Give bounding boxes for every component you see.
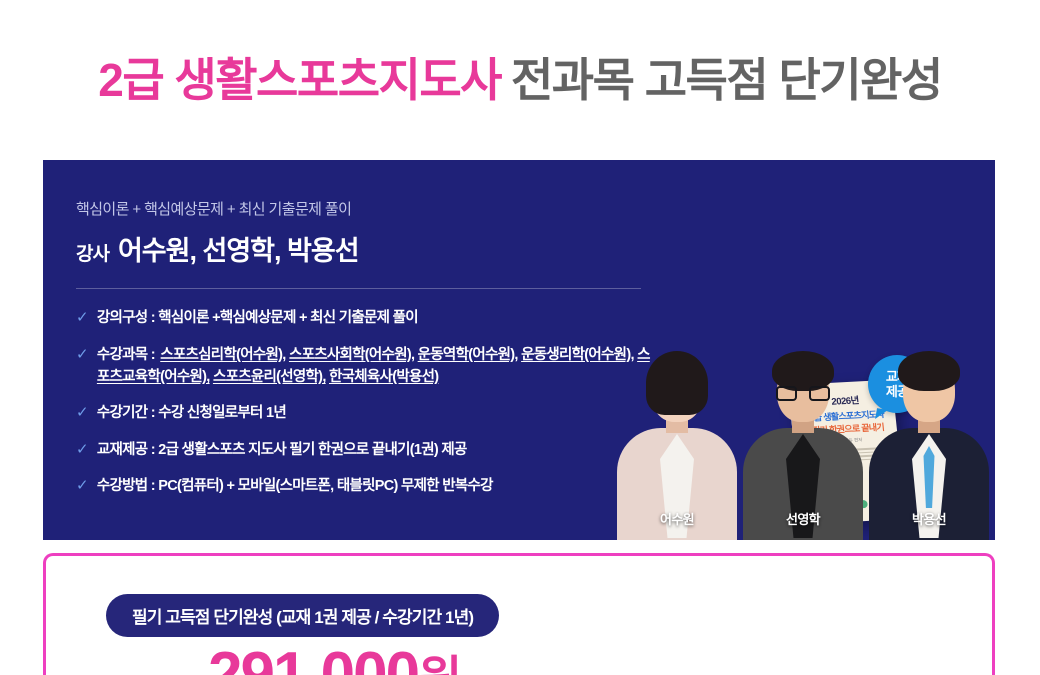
subject-item: 운동역학(어수원), — [418, 347, 518, 363]
instructor-name: 어수원 — [660, 509, 694, 528]
instructor-face — [651, 360, 703, 422]
check-icon: ✓ — [76, 439, 88, 462]
list-item: ✓ 수강기간 : 수강 신청일로부터 1년 — [76, 402, 656, 425]
check-icon: ✓ — [76, 402, 88, 425]
subject-list: 스포츠심리학(어수원), 스포츠사회학(어수원), 운동역학(어수원), 운동생… — [97, 347, 650, 385]
instructor-photo-group: 어수원 선영학 박용선 — [611, 350, 995, 540]
page-title-accent: 2급 생활스포츠지도사 — [98, 54, 501, 106]
page-title-rest: 전과목 고득점 단기완성 — [511, 54, 942, 106]
instructor-photo: 박용선 — [869, 360, 989, 540]
price-amount: 291,000원 — [208, 644, 460, 675]
course-info-panel: 핵심이론 + 핵심예상문제 + 최신 기출문제 풀이 강사 어수원, 선영학, … — [43, 160, 995, 540]
price-number: 291,000 — [208, 640, 418, 675]
lecturer-line: 강사 어수원, 선영학, 박용선 — [76, 229, 656, 268]
list-item-label: 교재제공 : 2급 생활스포츠 지도사 필기 한권으로 끝내기(1권) 제공 — [97, 439, 656, 461]
subject-item: 스포츠윤리(선영학), — [213, 369, 326, 385]
pill-sub-text: (교재 1권 제공 / 수강기간 1년) — [276, 608, 473, 627]
instructor-photo: 선영학 — [743, 360, 863, 540]
glasses-icon — [776, 386, 830, 401]
list-item: ✓ 강의구성 : 핵심이론 +핵심예상문제 + 최신 기출문제 풀이 — [76, 307, 656, 330]
list-item: ✓ 수강방법 : PC(컴퓨터) + 모바일(스마트폰, 태블릿PC) 무제한 … — [76, 475, 656, 498]
list-item-label: 강의구성 : 핵심이론 +핵심예상문제 + 최신 기출문제 풀이 — [97, 307, 656, 329]
check-icon: ✓ — [76, 344, 88, 367]
hair-icon — [898, 351, 960, 391]
page-title: 2급 생활스포츠지도사전과목 고득점 단기완성 — [98, 57, 942, 103]
list-item: ✓ 교재제공 : 2급 생활스포츠 지도사 필기 한권으로 끝내기(1권) 제공 — [76, 439, 656, 462]
list-item-label: 수강방법 : PC(컴퓨터) + 모바일(스마트폰, 태블릿PC) 무제한 반복… — [97, 475, 656, 497]
instructor-name: 박용선 — [912, 509, 946, 528]
price-feature-pill: 필기 고득점 단기완성 (교재 1권 제공 / 수강기간 1년) — [106, 594, 499, 637]
course-kicker: 핵심이론 + 핵심예상문제 + 최신 기출문제 풀이 — [76, 198, 656, 219]
subject-item: 한국체육사(박용선) — [329, 369, 438, 385]
instructor-photo: 어수원 — [617, 360, 737, 540]
page-header: 2급 생활스포츠지도사전과목 고득점 단기완성 — [0, 0, 1040, 160]
hair-icon — [772, 351, 834, 391]
instructor-face — [777, 360, 829, 422]
check-icon: ✓ — [76, 475, 88, 498]
lecturer-label: 강사 — [76, 239, 109, 266]
list-item-label: 수강기간 : 수강 신청일로부터 1년 — [97, 402, 656, 424]
section-divider — [76, 288, 641, 289]
subject-list-label: 수강과목 : — [97, 347, 155, 363]
course-detail-list: ✓ 강의구성 : 핵심이론 +핵심예상문제 + 최신 기출문제 풀이 ✓ 수강과… — [76, 307, 656, 498]
subject-item: 스포츠심리학(어수원), — [160, 347, 285, 363]
instructor-name: 선영학 — [786, 509, 820, 528]
pill-main-text: 필기 고득점 단기완성 — [132, 608, 272, 627]
list-item: ✓ 수강과목 : 스포츠심리학(어수원), 스포츠사회학(어수원), 운동역학(… — [76, 344, 656, 389]
price-currency-unit: 원 — [418, 653, 460, 675]
list-item-label: 수강과목 : 스포츠심리학(어수원), 스포츠사회학(어수원), 운동역학(어수… — [97, 344, 656, 389]
course-info-text: 핵심이론 + 핵심예상문제 + 최신 기출문제 풀이 강사 어수원, 선영학, … — [76, 198, 656, 512]
subject-item: 스포츠사회학(어수원), — [289, 347, 414, 363]
price-section: 필기 고득점 단기완성 (교재 1권 제공 / 수강기간 1년) 291,000… — [43, 553, 995, 675]
lecturer-names: 어수원, 선영학, 박용선 — [118, 229, 359, 268]
hair-icon — [646, 351, 708, 415]
instructor-face — [903, 360, 955, 422]
check-icon: ✓ — [76, 307, 88, 330]
